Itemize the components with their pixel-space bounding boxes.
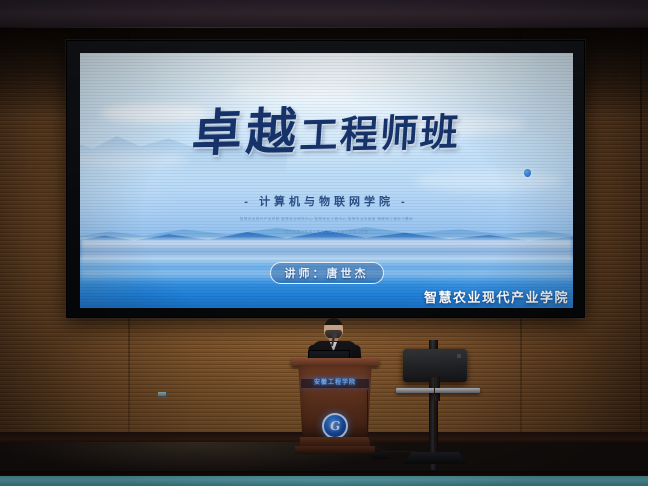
slide-fineprint-line-1: 智慧农业现代产业学院 智慧农业研究中心 智慧农业工程中心 智慧农业实验室 物联网… <box>80 216 573 223</box>
wall-outlet <box>157 391 167 397</box>
stage-apron-strip <box>0 476 648 486</box>
podium-top-surface <box>291 358 379 366</box>
projection-screen-frame: 卓越工程师班 - 计算机与物联网学院 - 智慧农业现代产业学院 智慧农业研究中心… <box>66 40 585 318</box>
podium-plinth <box>295 446 375 454</box>
podium-nameplate-text: 安徽工程学院 <box>301 379 369 388</box>
emblem-letter: G <box>329 419 341 433</box>
pole-cable <box>434 372 438 450</box>
slide-subtitle: - 计算机与物联网学院 - <box>80 193 573 209</box>
cloud <box>415 170 563 190</box>
slide-fineprint-line-2: 时代发展以技术为职业，学习技术让您强入学堂 <box>80 229 573 236</box>
floor-cable <box>367 390 415 452</box>
monitor-port-marker <box>457 354 461 358</box>
university-emblem-icon: G <box>322 413 348 439</box>
slide-main-title: 卓越工程师班 <box>80 86 573 168</box>
ceiling <box>0 0 648 30</box>
podium-front-panel: 安徽工程学院 G <box>296 365 374 437</box>
lecture-hall-scene: 卓越工程师班 - 计算机与物联网学院 - 智慧农业现代产业学院 智慧农业研究中心… <box>0 0 648 486</box>
podium-nameplate: 安徽工程学院 <box>301 379 369 388</box>
slide-title-part2: 工程师班 <box>298 109 461 157</box>
stand-base-foot <box>404 452 466 464</box>
slide-corner-brand: 智慧农业现代产业学院 <box>424 287 569 306</box>
projection-screen: 卓越工程师班 - 计算机与物联网学院 - 智慧农业现代产业学院 智慧农业研究中心… <box>80 53 573 308</box>
floor-connector-box <box>372 452 388 459</box>
slide-speaker-badge: 讲师：唐世杰 <box>270 262 384 284</box>
slide-title-part1: 卓越 <box>190 102 302 163</box>
podium: 安徽工程学院 G <box>296 358 374 458</box>
